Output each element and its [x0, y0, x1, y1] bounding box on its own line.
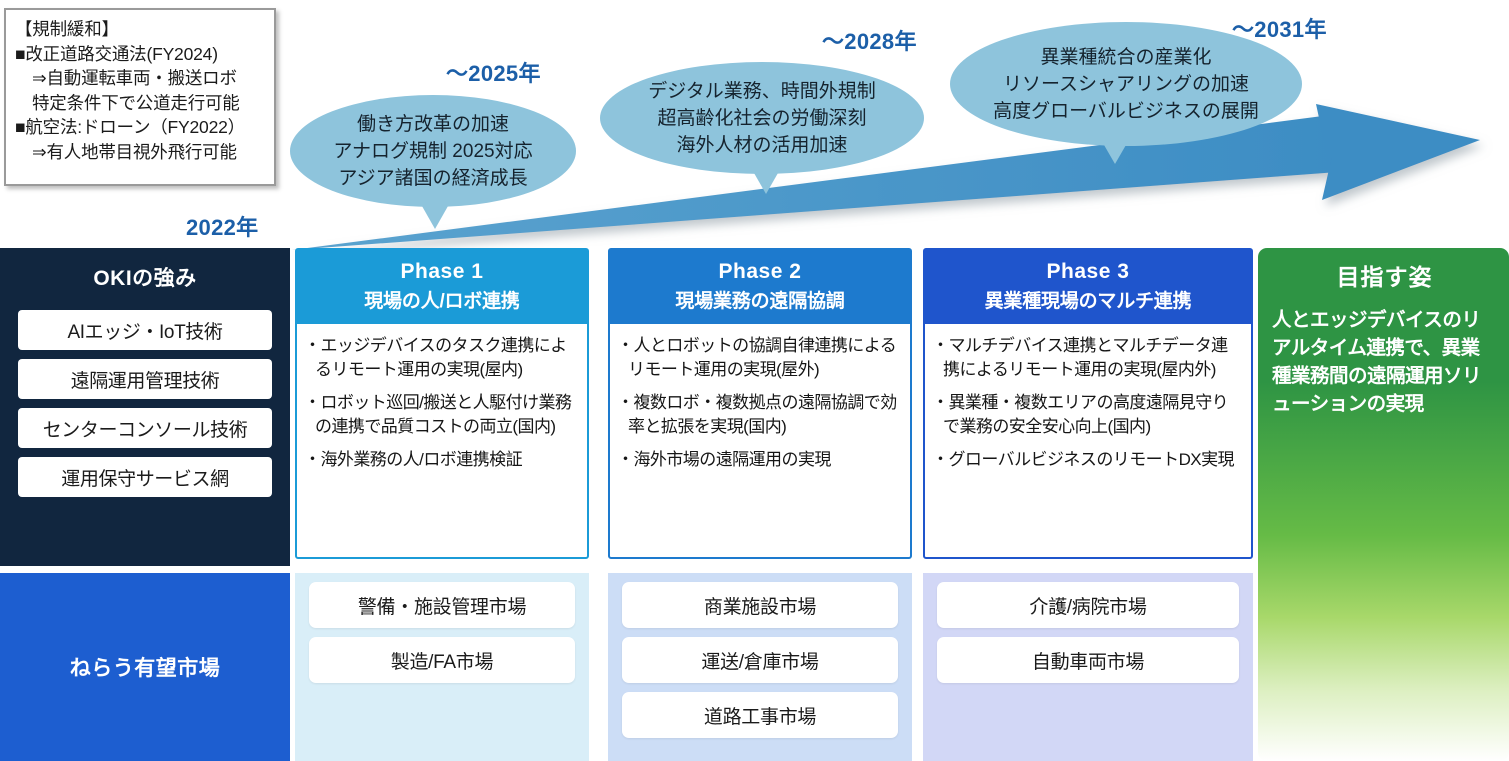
bubble-2031: 異業種統合の産業化 リソースシャアリングの加速 高度グローバルビジネスの展開: [950, 22, 1302, 146]
phase-2-card: Phase 2 現場業務の遠隔協調 ・人とロボットの協調自律連携によるリモート運…: [608, 248, 912, 559]
phase-3-body: ・マルチデバイス連携とマルチデータ連携によるリモート運用の実現(屋内外) ・異業…: [925, 324, 1251, 472]
phase-2-bullet-0: ・人とロボットの協調自律連携によるリモート運用の実現(屋外): [617, 334, 903, 382]
phase-1-body: ・エッジデバイスのタスク連携によるリモート運用の実現(屋内) ・ロボット巡回/搬…: [297, 324, 587, 472]
bubble-2031-line-3: 高度グローバルビジネスの展開: [993, 98, 1259, 125]
bubble-2028-line-1: デジタル業務、時間外規制: [648, 78, 876, 105]
phase-2-markets: 商業施設市場 運送/倉庫市場 道路工事市場: [608, 573, 912, 761]
bubble-2025-line-3: アジア諸国の経済成長: [338, 165, 527, 192]
strength-item-2: センターコンソール技術: [18, 408, 272, 448]
regulation-note-box: 【規制緩和】 ■改正道路交通法(FY2024) ⇒自動運転車両・搬送ロボ 特定条…: [4, 8, 276, 186]
bubble-2031-line-2: リソースシャアリングの加速: [1003, 71, 1249, 98]
phase-3-header: Phase 3 異業種現場のマルチ連携: [925, 250, 1251, 324]
bubble-2028: デジタル業務、時間外規制 超高齢化社会の労働深刻 海外人材の活用加速: [600, 62, 924, 174]
bubble-2025-line-1: 働き方改革の加速: [357, 111, 509, 138]
phase-1-subtitle: 現場の人/ロボ連携: [301, 286, 583, 313]
phase-1-card: Phase 1 現場の人/ロボ連携 ・エッジデバイスのタスク連携によるリモート運…: [295, 248, 589, 559]
regulation-line-2: ⇒自動運転車両・搬送ロボ: [15, 66, 266, 91]
phase-2-bullet-1: ・複数ロボ・複数拠点の遠隔協調で効率と拡張を実現(国内): [617, 391, 903, 439]
phase-3-bullet-1: ・異業種・複数エリアの高度遠隔見守りで業務の安全安心向上(国内): [932, 391, 1244, 439]
market-chip: 警備・施設管理市場: [309, 582, 575, 628]
market-chip: 道路工事市場: [622, 692, 898, 738]
roadmap-grid: OKIの強み AIエッジ・IoT技術 遠隔運用管理技術 センターコンソール技術 …: [0, 248, 1509, 761]
phase-2-body: ・人とロボットの協調自律連携によるリモート運用の実現(屋外) ・複数ロボ・複数拠…: [610, 324, 910, 472]
regulation-heading: 【規制緩和】: [15, 17, 266, 42]
year-label-2025: ～2025年: [446, 56, 541, 88]
regulation-line-1: ■改正道路交通法(FY2024): [15, 42, 266, 67]
strength-item-1: 遠隔運用管理技術: [18, 359, 272, 399]
phase-3-bullet-0: ・マルチデバイス連携とマルチデータ連携によるリモート運用の実現(屋内外): [932, 334, 1244, 382]
bubble-tail-icon: [1100, 138, 1130, 164]
vision-panel: 目指す姿 人とエッジデバイスのリアルタイム連携で、異業種業務間の遠隔運用ソリュー…: [1258, 248, 1509, 761]
phase-1-bullet-1: ・ロボット巡回/搬送と人駆付け業務の連携で品質コストの両立(国内): [304, 391, 580, 439]
bubble-2025-line-2: アナログ規制 2025対応: [333, 138, 532, 165]
bubble-2028-line-2: 超高齢化社会の労働深刻: [657, 105, 866, 132]
market-chip: 介護/病院市場: [937, 582, 1239, 628]
year-label-2022: 2022年: [186, 210, 258, 242]
phase-3-number: Phase 3: [929, 260, 1247, 284]
phase-1-header: Phase 1 現場の人/ロボ連携: [297, 250, 587, 324]
market-chip: 商業施設市場: [622, 582, 898, 628]
phase-3-subtitle: 異業種現場のマルチ連携: [929, 286, 1247, 313]
vision-title: 目指す姿: [1272, 258, 1497, 292]
phase-1-bullet-0: ・エッジデバイスのタスク連携によるリモート運用の実現(屋内): [304, 334, 580, 382]
phase-1-bullet-2: ・海外業務の人/ロボ連携検証: [304, 448, 580, 472]
bubble-2031-line-1: 異業種統合の産業化: [1040, 44, 1211, 71]
phase-3-card: Phase 3 異業種現場のマルチ連携 ・マルチデバイス連携とマルチデータ連携に…: [923, 248, 1253, 559]
phase-3-bullet-2: ・グローバルビジネスのリモートDX実現: [932, 448, 1244, 472]
strength-item-3: 運用保守サービス網: [18, 457, 272, 497]
phase-1-markets: 警備・施設管理市場 製造/FA市場: [295, 573, 589, 761]
strengths-title: OKIの強み: [18, 262, 272, 292]
phase-1-number: Phase 1: [301, 260, 583, 284]
regulation-line-5: ⇒有人地帯目視外飛行可能: [15, 140, 266, 165]
bubble-2028-line-3: 海外人材の活用加速: [676, 132, 847, 159]
market-chip: 製造/FA市場: [309, 637, 575, 683]
bubble-2025: 働き方改革の加速 アナログ規制 2025対応 アジア諸国の経済成長: [290, 95, 576, 207]
regulation-line-3: 特定条件下で公道走行可能: [15, 91, 266, 116]
phase-2-header: Phase 2 現場業務の遠隔協調: [610, 250, 910, 324]
vision-body: 人とエッジデバイスのリアルタイム連携で、異業種業務間の遠隔運用ソリューションの実…: [1272, 306, 1497, 418]
market-row-label: ねらう有望市場: [0, 573, 290, 761]
strengths-panel: OKIの強み AIエッジ・IoT技術 遠隔運用管理技術 センターコンソール技術 …: [0, 248, 290, 566]
year-label-2028: ～2028年: [822, 24, 917, 56]
strength-item-0: AIエッジ・IoT技術: [18, 310, 272, 350]
bubble-tail-icon: [418, 199, 452, 229]
phase-2-subtitle: 現場業務の遠隔協調: [614, 286, 906, 313]
market-row-label-text: ねらう有望市場: [70, 652, 221, 682]
regulation-line-4: ■航空法:ドローン（FY2022）: [15, 115, 266, 140]
phase-2-number: Phase 2: [614, 260, 906, 284]
phase-3-markets: 介護/病院市場 自動車両市場: [923, 573, 1253, 761]
bubble-tail-icon: [750, 166, 782, 194]
phase-2-bullet-2: ・海外市場の遠隔運用の実現: [617, 448, 903, 472]
market-chip: 自動車両市場: [937, 637, 1239, 683]
market-chip: 運送/倉庫市場: [622, 637, 898, 683]
